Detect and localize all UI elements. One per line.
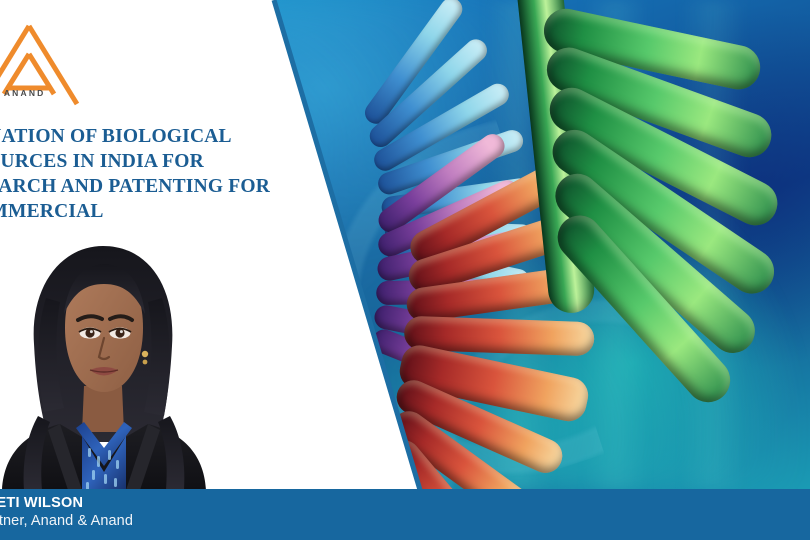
- speaker-footer-bar: NEETI WILSON Partner, Anand & Anand: [0, 489, 810, 540]
- page-title-line-1: LUATION OF BIOLOGICAL: [0, 124, 304, 149]
- anand-logo-wordmark: ND & ANAND: [0, 88, 100, 98]
- helix-strand-green: [525, 0, 810, 274]
- page-title-line-2: SOURCES IN INDIA FOR: [0, 149, 304, 174]
- left-content-area: ND & ANAND LUATION OF BIOLOGICAL SOURCES…: [0, 0, 300, 490]
- speaker-name: NEETI WILSON: [0, 495, 83, 511]
- page-title-line-4: OMMERCIAL: [0, 199, 304, 224]
- speaker-role: Partner, Anand & Anand: [0, 513, 133, 529]
- speaker-photo: [0, 236, 220, 490]
- page-title-line-3: SEARCH AND PATENTING FOR: [0, 174, 304, 199]
- slide-canvas: ND & ANAND LUATION OF BIOLOGICAL SOURCES…: [0, 0, 810, 540]
- page-title: LUATION OF BIOLOGICAL SOURCES IN INDIA F…: [0, 124, 304, 224]
